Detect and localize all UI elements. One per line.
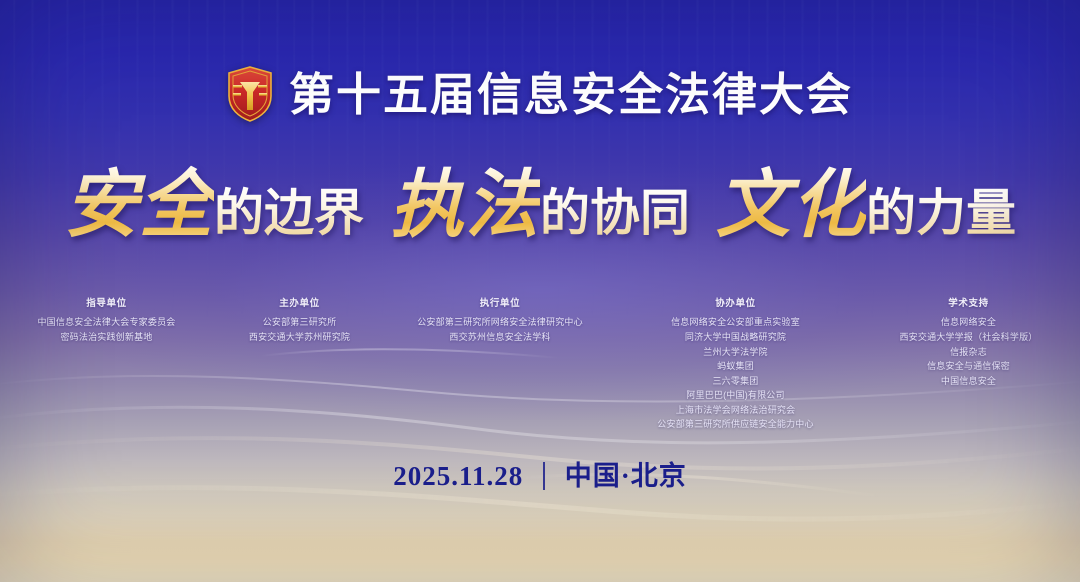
organizer-item: 同济大学中国战略研究院 [618,330,853,345]
date-separator [543,462,545,490]
organizer-item: 西交苏州信息安全法学科 [400,330,600,345]
poster-header: 第十五届信息安全法律大会 [0,66,1080,122]
organizer-item: 中国信息安全 [871,374,1066,389]
shield-emblem-icon [227,66,273,122]
slogan-segment-1: 安全的边界 [64,168,364,242]
organizer-column-executor: 执行单位 公安部第三研究所网络安全法律研究中心 西交苏州信息安全法学科 [391,298,609,345]
organizer-column-academic-support: 学术支持 信息网络安全 西安交通大学学报（社会科学版） 信报杂志 信息安全与通信… [862,298,1075,388]
slogan: 安全的边界 执法的协同 文化的力量 [0,168,1080,242]
slogan-big-3: 文化 [716,163,866,246]
slogan-big-2: 执法 [390,163,540,246]
organizer-item: 阿里巴巴(中国)有限公司 [618,388,853,403]
organizer-heading: 主办单位 [217,298,382,309]
page-title: 第十五届信息安全法律大会 [289,72,853,117]
organizer-item: 西安交通大学学报（社会科学版） [871,330,1066,345]
organizer-item: 蚂蚁集团 [618,359,853,374]
organizer-item: 三六零集团 [618,374,853,389]
slogan-big-1: 安全 [64,163,214,246]
organizer-item: 公安部第三研究所网络安全法律研究中心 [400,315,600,330]
organizer-item: 信息网络安全公安部重点实验室 [618,315,853,330]
slogan-small-3: 的力量 [866,185,1016,241]
organizer-item: 上海市法学会网络法治研究会 [618,403,853,418]
organizer-item: 公安部第三研究所供应链安全能力中心 [618,417,853,432]
organizer-item: 西安交通大学苏州研究院 [217,330,382,345]
organizer-item: 密码法治实践创新基地 [14,330,199,345]
organizer-heading: 指导单位 [14,298,199,309]
slogan-segment-2: 执法的协同 [390,168,690,242]
event-date: 2025.11.28 [393,463,523,490]
organizer-item: 兰州大学法学院 [618,345,853,360]
organizer-item: 信息安全与通信保密 [871,359,1066,374]
organizer-item: 信报杂志 [871,345,1066,360]
slogan-small-2: 的协同 [540,185,690,241]
organizer-item: 信息网络安全 [871,315,1066,330]
organizer-heading: 执行单位 [400,298,600,309]
organizer-heading: 协办单位 [618,298,853,309]
organizer-column-host: 主办单位 公安部第三研究所 西安交通大学苏州研究院 [208,298,391,345]
organizer-heading: 学术支持 [871,298,1066,309]
event-location: 中国·北京 [565,463,687,490]
organizer-item: 中国信息安全法律大会专家委员会 [14,315,199,330]
slogan-segment-3: 文化的力量 [716,168,1016,242]
slogan-small-1: 的边界 [214,185,364,241]
event-datetime-location: 2025.11.28 中国·北京 [0,462,1080,490]
organizer-column-coorganizer: 协办单位 信息网络安全公安部重点实验室 同济大学中国战略研究院 兰州大学法学院 … [609,298,862,432]
conference-poster: 第十五届信息安全法律大会 安全的边界 执法的协同 文化的力量 指导单位 中国信息… [0,0,1080,582]
organizer-columns: 指导单位 中国信息安全法律大会专家委员会 密码法治实践创新基地 主办单位 公安部… [0,298,1080,432]
organizer-item: 公安部第三研究所 [217,315,382,330]
organizer-column-guidance: 指导单位 中国信息安全法律大会专家委员会 密码法治实践创新基地 [5,298,208,345]
